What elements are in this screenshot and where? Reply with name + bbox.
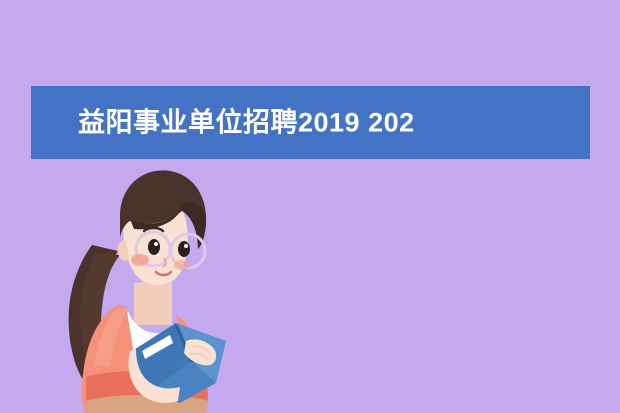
banner-card: 益阳事业单位招聘2019 202: [0, 0, 620, 413]
page-title: 益阳事业单位招聘2019 202: [78, 109, 415, 136]
eye-left-highlight: [154, 242, 158, 246]
blush-left: [131, 254, 149, 266]
eye-right: [178, 241, 190, 257]
glasses-bridge: [170, 249, 171, 250]
blush-right: [174, 260, 190, 270]
title-bar: 益阳事业单位招聘2019 202: [31, 86, 590, 159]
illustration-svg: [30, 155, 250, 413]
eye-left: [148, 239, 160, 255]
neck: [134, 279, 172, 325]
eye-right-highlight: [184, 244, 188, 248]
woman-reading-book-illustration: [30, 155, 250, 413]
